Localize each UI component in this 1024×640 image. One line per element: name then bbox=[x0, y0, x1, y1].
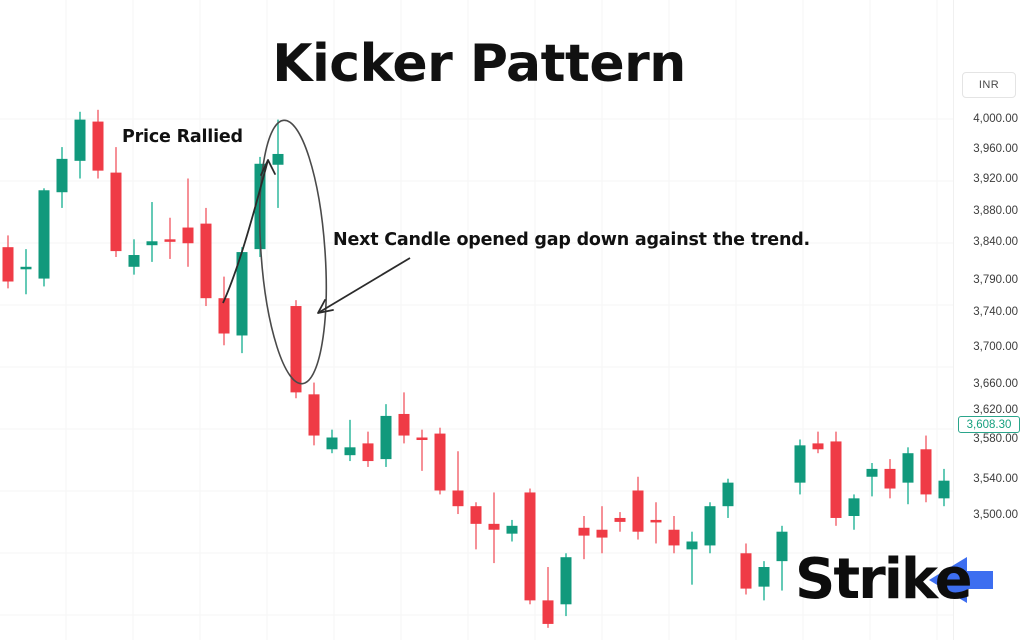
candlestick bbox=[669, 516, 680, 553]
candlestick bbox=[633, 477, 644, 540]
candlestick bbox=[165, 218, 176, 259]
candlestick bbox=[579, 516, 590, 559]
candlestick bbox=[111, 147, 122, 257]
candlestick bbox=[561, 553, 572, 616]
candlestick bbox=[255, 157, 266, 257]
logo-wordmark: Strike bbox=[795, 545, 971, 615]
axis-tick: 3,620.00 bbox=[956, 404, 1018, 416]
current-price-badge: 3,608.30 bbox=[958, 416, 1020, 433]
candlestick bbox=[867, 463, 878, 496]
axis-tick: 3,540.00 bbox=[956, 473, 1018, 485]
candlestick bbox=[291, 300, 302, 398]
axis-tick: 3,840.00 bbox=[956, 236, 1018, 248]
candlestick-series bbox=[0, 0, 1024, 640]
candlestick bbox=[615, 512, 626, 532]
axis-tick: 3,580.00 bbox=[956, 433, 1018, 445]
candlestick bbox=[435, 428, 446, 495]
candlestick bbox=[453, 451, 464, 514]
axis-tick: 3,700.00 bbox=[956, 341, 1018, 353]
candlestick bbox=[39, 188, 50, 286]
candlestick bbox=[903, 447, 914, 504]
candlestick bbox=[921, 436, 932, 503]
axis-tick: 3,960.00 bbox=[956, 143, 1018, 155]
candlestick bbox=[849, 494, 860, 529]
currency-unit-label: INR bbox=[962, 72, 1016, 98]
candlestick bbox=[543, 567, 554, 628]
candlestick bbox=[273, 120, 284, 208]
strike-logo: Strike bbox=[795, 545, 1005, 615]
axis-tick: 4,000.00 bbox=[956, 113, 1018, 125]
candlestick bbox=[687, 532, 698, 585]
candlestick bbox=[21, 249, 32, 294]
candlestick bbox=[885, 459, 896, 498]
candlestick bbox=[381, 404, 392, 467]
candlestick bbox=[759, 561, 770, 600]
axis-tick: 3,790.00 bbox=[956, 274, 1018, 286]
candlestick bbox=[525, 489, 536, 605]
candlestick bbox=[705, 502, 716, 553]
candlestick bbox=[3, 235, 14, 288]
axis-tick: 3,500.00 bbox=[956, 509, 1018, 521]
price-axis[interactable]: INR 4,000.003,960.003,920.003,880.003,84… bbox=[954, 0, 1024, 640]
candlestick bbox=[507, 520, 518, 542]
candlestick bbox=[57, 147, 68, 208]
annotation-gap-down: Next Candle opened gap down against the … bbox=[333, 230, 810, 250]
candlestick bbox=[129, 239, 140, 274]
candlestick bbox=[219, 277, 230, 346]
candlestick bbox=[201, 208, 212, 306]
annotation-price-rallied: Price Rallied bbox=[122, 127, 243, 147]
candlestick bbox=[399, 392, 410, 443]
candlestick bbox=[147, 202, 158, 262]
axis-tick: 3,660.00 bbox=[956, 378, 1018, 390]
candlestick bbox=[651, 502, 662, 543]
candlestick bbox=[363, 432, 374, 467]
candlestick bbox=[597, 506, 608, 553]
candlestick bbox=[75, 112, 86, 179]
candlestick bbox=[93, 110, 104, 179]
chart-screenshot: Kicker Pattern Price Rallied Next Candle… bbox=[0, 0, 1024, 640]
candlestick bbox=[489, 492, 500, 563]
candlestick bbox=[777, 526, 788, 591]
candlestick bbox=[183, 178, 194, 266]
candlestick bbox=[813, 432, 824, 454]
candlestick bbox=[417, 430, 428, 471]
axis-tick: 3,880.00 bbox=[956, 205, 1018, 217]
candlestick bbox=[831, 432, 842, 526]
axis-tick: 3,920.00 bbox=[956, 173, 1018, 185]
candlestick bbox=[795, 439, 806, 494]
page-title: Kicker Pattern bbox=[0, 34, 958, 94]
candlestick bbox=[939, 469, 950, 506]
candlestick bbox=[237, 247, 248, 353]
axis-tick: 3,740.00 bbox=[956, 306, 1018, 318]
candlestick bbox=[471, 502, 482, 549]
candlestick bbox=[723, 479, 734, 518]
candlestick bbox=[741, 543, 752, 594]
candlestick bbox=[309, 383, 320, 446]
candlestick bbox=[345, 420, 356, 461]
candlestick bbox=[327, 430, 338, 454]
